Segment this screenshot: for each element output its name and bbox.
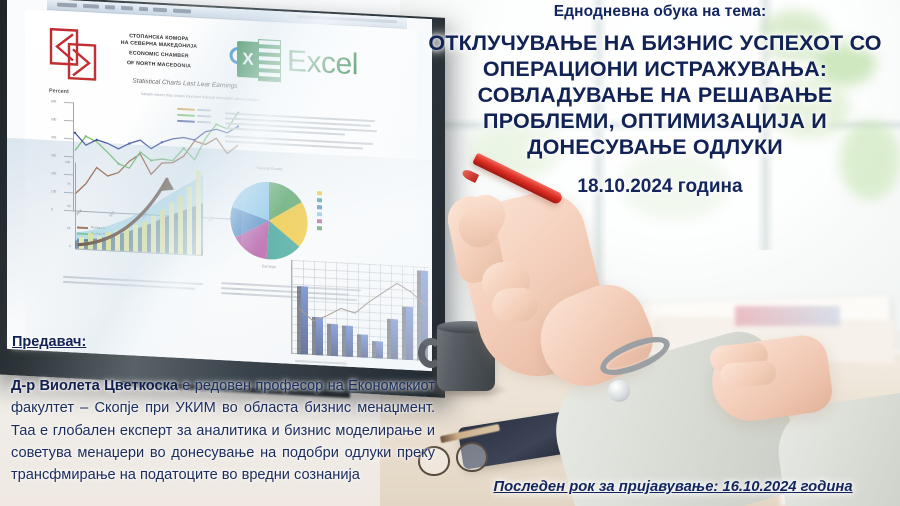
toolbar-item[interactable] [121, 6, 133, 11]
excel-icon-grid [258, 39, 281, 82]
title-line-5: ДОНЕСУВАЊЕ ОДЛУКИ [412, 134, 898, 160]
training-announcement-poster: СТОПАНСКА КОМОРА НА СЕВЕРНА МАКЕДОНИЈА E… [0, 0, 900, 506]
pie-legend-swatch [317, 205, 322, 209]
lecturer-name: Д-р Виолета Цветкоска [11, 378, 178, 394]
title-line-3: СОВЛАДУВАЊЕ НА РЕШАВАЊЕ [412, 82, 898, 108]
growth-arrow-icon [75, 160, 203, 257]
finger-right-middle [719, 360, 777, 388]
line-chart-ylabel: Percent [49, 88, 69, 95]
toolbar-item[interactable] [83, 4, 99, 9]
toolbar-item[interactable] [153, 8, 167, 13]
eyeglasses-lens-right [456, 442, 488, 472]
toolbar-item[interactable] [105, 5, 115, 10]
chamber-name-en-1: ECONOMIC CHAMBER [129, 50, 189, 59]
title-line-1: ОТКЛУЧУВАЊЕ НА БИЗНИС УСПЕХОТ СО [412, 30, 898, 56]
pie-legend-swatch [317, 191, 322, 195]
pie-legend-swatch [317, 212, 322, 216]
lecturer-label: Предавач: [12, 334, 86, 350]
document-sheet: СТОПАНСКА КОМОРА НА СЕВЕРНА МАКЕДОНИЈА E… [25, 10, 417, 371]
title-line-4: ПРОБЛЕМИ, ОПТИМИЗАЦИЈА И [412, 108, 898, 134]
blue-chart-overlay-line [293, 260, 429, 361]
event-date: 18.10.2024 година [430, 176, 890, 198]
pie-chart-plot [227, 176, 311, 264]
pie-legend-swatch [317, 198, 322, 202]
pie-legend-swatch [317, 226, 322, 230]
excel-icon-letter: X [237, 41, 259, 78]
excel-wordmark: Excel [287, 45, 358, 83]
growth-bar-chart: 100 75 50 25 0 [63, 162, 209, 278]
blue-bar-chart [277, 255, 432, 371]
lecturer-bio: Д-р Виолета Цветкоска е редовен професор… [11, 375, 435, 486]
toolbar-item[interactable] [173, 9, 191, 14]
toolbar-item[interactable] [57, 3, 77, 8]
bracelet-bead [608, 380, 630, 402]
toolbar-scrollbar[interactable] [297, 15, 397, 23]
title-line-2: ОПЕРАЦИОНИ ИСТРАЖУВАЊА: [412, 56, 898, 82]
pie-chart-title: Financial Growth [229, 165, 309, 173]
monitor-screen: СТОПАНСКА КОМОРА НА СЕВЕРНА МАКЕДОНИЈА E… [7, 0, 432, 371]
chamber-name-en-2: OF NORTH MACEDONIA [127, 60, 191, 69]
excel-logo: X Excel [237, 35, 387, 91]
poster-title: ОТКЛУЧУВАЊЕ НА БИЗНИС УСПЕХОТ СО ОПЕРАЦИ… [412, 30, 898, 160]
poster-kicker: Еднодневна обука на тема: [430, 3, 890, 21]
registration-deadline: Последен рок за пријавување: 16.10.2024 … [452, 479, 894, 495]
toolbar-item[interactable] [139, 7, 148, 11]
chamber-logo-text: СТОПАНСКА КОМОРА НА СЕВЕРНА МАКЕДОНИЈА E… [103, 32, 215, 72]
pie-legend-swatch [317, 219, 322, 223]
excel-icon: X [237, 38, 281, 82]
desk-paper-colored [735, 306, 840, 326]
